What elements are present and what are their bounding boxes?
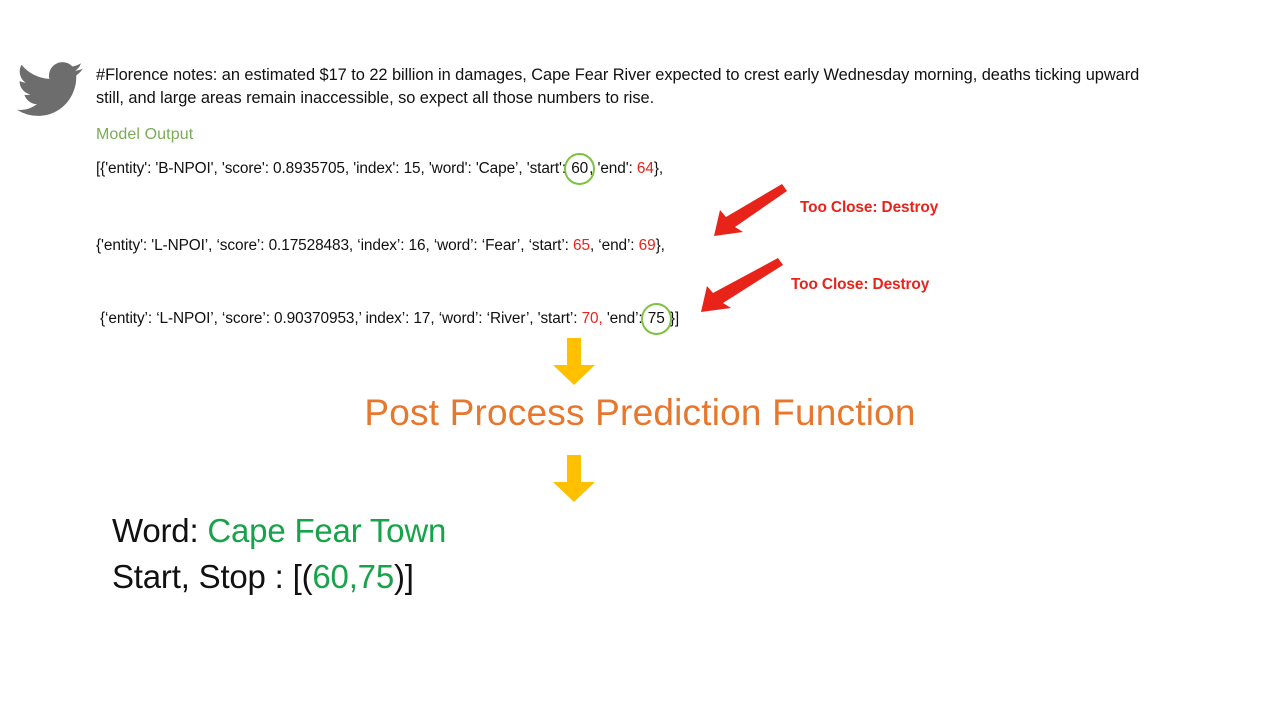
entity-prediction-line: [{'entity': 'B-NPOI', 'score': 0.8935705…	[96, 160, 663, 178]
start-value: 65	[573, 237, 590, 254]
result-span-value: 60,75	[312, 558, 394, 595]
result-word-row: Word: Cape Fear Town	[112, 508, 446, 554]
entity-line-suffix: }]	[666, 310, 679, 327]
entity-line-prefix: {‘entity’: ‘L-NPOI’, ‘score’: 0.90370953…	[100, 310, 582, 327]
start-value-circled: 60	[570, 160, 589, 178]
end-value: 69	[639, 237, 656, 254]
section-title: Post Process Prediction Function	[0, 392, 1280, 434]
start-value: 70,	[582, 310, 603, 327]
result-span-row: Start, Stop : [(60,75)]	[112, 554, 446, 600]
entity-line-suffix: },	[654, 160, 663, 177]
tweet-text: #Florence notes: an estimated $17 to 22 …	[96, 64, 1156, 111]
down-arrow-icon	[552, 338, 596, 391]
result-word-value: Cape Fear Town	[207, 512, 446, 549]
entity-prediction-line: {‘entity’: ‘L-NPOI’, ‘score’: 0.90370953…	[100, 310, 679, 328]
entity-line-middle: , ‘end’:	[590, 237, 639, 254]
entity-line-middle: 'end’:	[603, 310, 647, 327]
red-arrow-icon	[698, 256, 784, 319]
entity-line-prefix: [{'entity': 'B-NPOI', 'score': 0.8935705…	[96, 160, 570, 177]
twitter-bird-icon	[14, 56, 86, 122]
entity-line-middle: , 'end':	[589, 160, 637, 177]
end-value-circled: 75	[647, 310, 666, 328]
result-word-label: Word:	[112, 512, 207, 549]
entity-line-suffix: },	[656, 237, 665, 254]
down-arrow-icon	[552, 455, 596, 508]
annotation-note: Too Close: Destroy	[800, 199, 938, 217]
final-result-block: Word: Cape Fear Town Start, Stop : [(60,…	[112, 508, 446, 599]
result-span-suffix: )]	[394, 558, 414, 595]
entity-line-prefix: {'entity': 'L-NPOI’, ‘score’: 0.17528483…	[96, 237, 573, 254]
model-output-label: Model Output	[96, 126, 193, 144]
result-span-label: Start, Stop : [(	[112, 558, 312, 595]
annotation-note: Too Close: Destroy	[791, 276, 929, 294]
end-value: 64	[637, 160, 654, 177]
entity-prediction-line: {'entity': 'L-NPOI’, ‘score’: 0.17528483…	[96, 237, 665, 255]
red-arrow-icon	[712, 182, 788, 243]
